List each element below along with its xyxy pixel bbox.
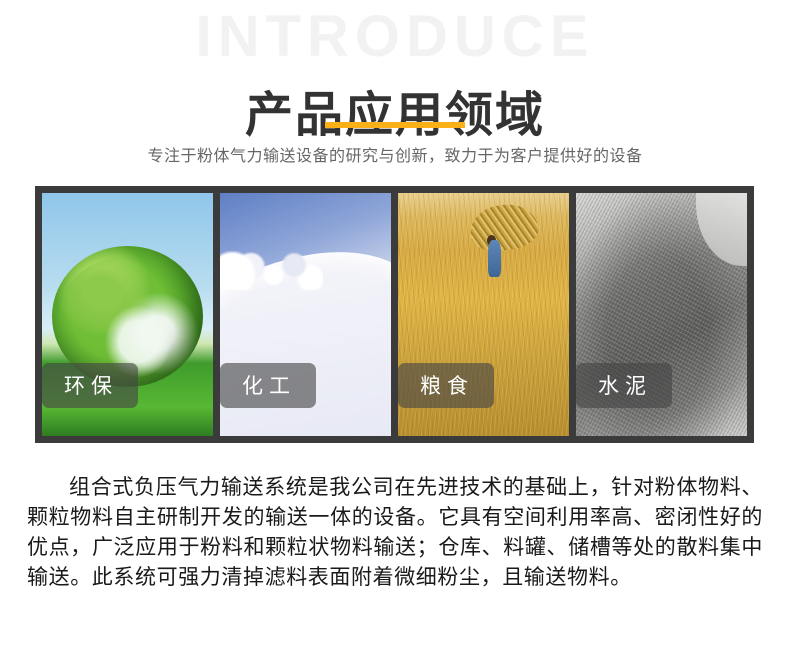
farmer-body <box>488 240 502 277</box>
gallery-tile-environment[interactable]: 环保 <box>42 193 213 436</box>
title-accent-bar <box>325 122 465 128</box>
watermark-text: INTRODUCE <box>0 8 790 66</box>
gallery-tile-chemical[interactable]: 化工 <box>220 193 391 436</box>
description-paragraph: 组合式负压气力输送系统是我公司在先进技术的基础上，针对粉体物料、颗粒物料自主研制… <box>27 473 763 593</box>
page-header: INTRODUCE 产品应用领域 专注于粉体气力输送设备的研究与创新，致力于为客… <box>0 0 790 186</box>
farmer-figure <box>470 205 538 283</box>
wheat-bundle <box>467 201 540 254</box>
gallery-tile-cement[interactable]: 水泥 <box>576 193 747 436</box>
tile-label-cement: 水泥 <box>576 363 672 408</box>
application-gallery: 环保 化工 粮食 水泥 <box>35 186 754 443</box>
tile-label-grain: 粮食 <box>398 363 494 408</box>
tile-label-environment: 环保 <box>42 363 138 408</box>
tile-label-chemical: 化工 <box>220 363 316 408</box>
page-title: 产品应用领域 <box>0 90 790 143</box>
page-subtitle: 专注于粉体气力输送设备的研究与创新，致力于为客户提供好的设备 <box>0 142 790 166</box>
gallery-tile-grain[interactable]: 粮食 <box>398 193 569 436</box>
